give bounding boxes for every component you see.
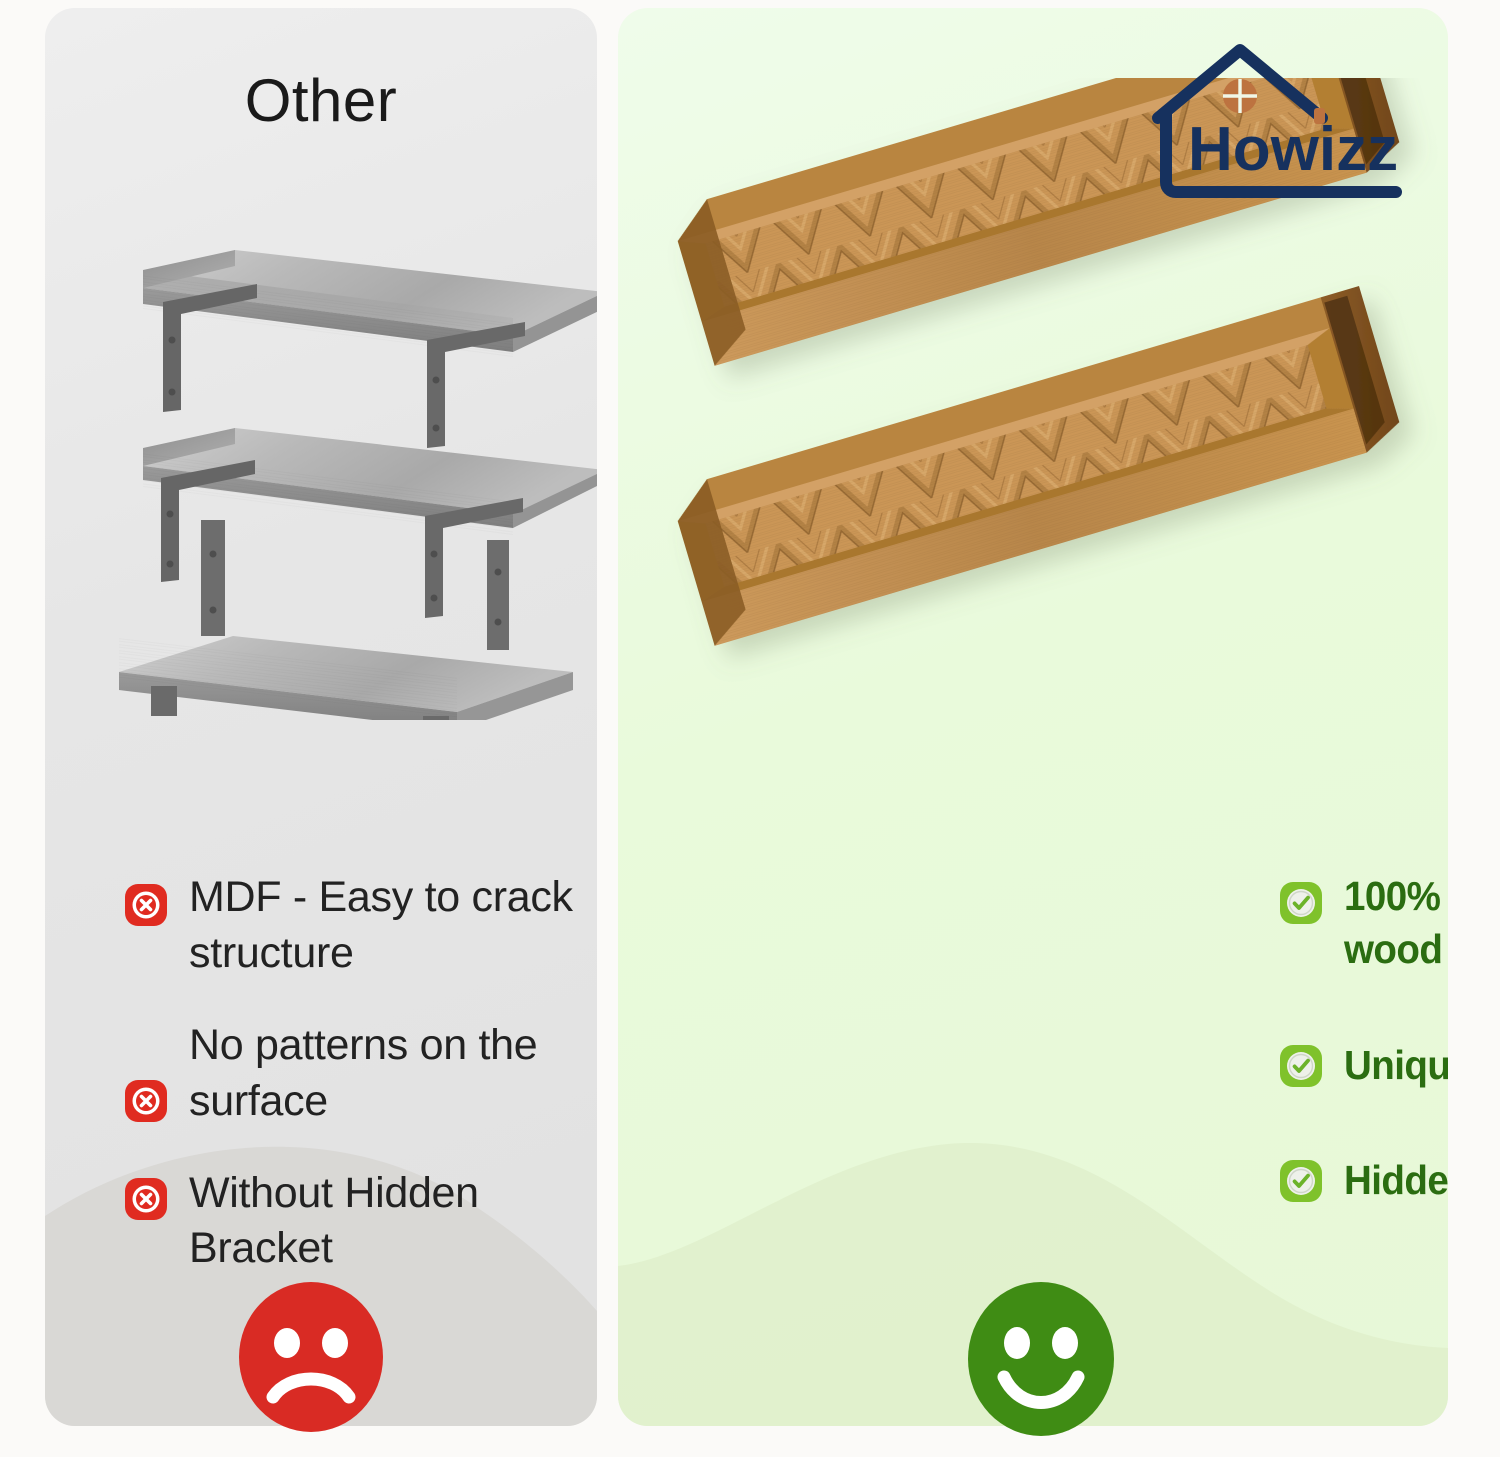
howizz-brand-panel: Howizz 100% Solid Acacia Wood - Durable … <box>618 8 1448 1426</box>
feature-item: Hidden Bracket <box>1280 1154 1448 1207</box>
feature-label: MDF - Easy to crack structure <box>189 870 597 982</box>
house-window-icon <box>1223 79 1257 113</box>
brand-accent-dot <box>1314 108 1325 124</box>
feature-label: Without Hidden Bracket <box>189 1166 597 1278</box>
feature-item: Unique Herringbone Pattern <box>1280 1039 1448 1092</box>
feature-label: Unique Herringbone Pattern <box>1344 1039 1448 1092</box>
other-title: Other <box>45 66 597 135</box>
cross-icon <box>125 884 167 926</box>
check-icon <box>1280 1160 1322 1202</box>
howizz-feature-list: 100% Solid Acacia Wood - Durable wood st… <box>1280 870 1448 1207</box>
other-feature-list: MDF - Easy to crack structure No pattern… <box>125 870 597 1277</box>
check-icon <box>1280 882 1322 924</box>
feature-item: MDF - Easy to crack structure <box>125 870 597 982</box>
check-icon <box>1280 1045 1322 1087</box>
howizz-logo: Howizz <box>1144 34 1412 204</box>
happy-face-icon <box>966 1281 1116 1437</box>
brand-wordmark: Howizz <box>1188 115 1398 184</box>
feature-item: 100% Solid Acacia Wood - Durable wood st… <box>1280 870 1448 977</box>
feature-label: 100% Solid Acacia Wood - Durable wood st… <box>1344 870 1448 977</box>
cross-icon <box>125 1178 167 1220</box>
feature-label: Hidden Bracket <box>1344 1154 1448 1207</box>
cross-icon <box>125 1080 167 1122</box>
feature-label: No patterns on the surface <box>189 1018 597 1130</box>
feature-item: No patterns on the surface <box>125 1018 597 1130</box>
comparison-stage: Other <box>0 0 1500 1457</box>
feature-item: Without Hidden Bracket <box>125 1166 597 1278</box>
other-shelves-image <box>105 240 597 720</box>
other-brand-panel: Other <box>45 8 597 1426</box>
sad-face-icon <box>237 1281 385 1433</box>
